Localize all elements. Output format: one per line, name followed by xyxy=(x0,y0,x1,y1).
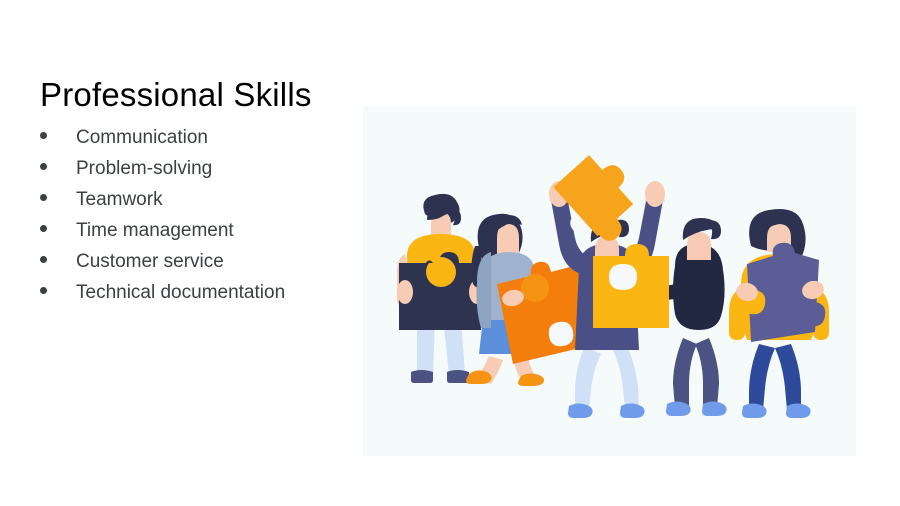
hand xyxy=(645,181,665,207)
list-item: Customer service xyxy=(40,246,350,277)
bullet-dot-icon xyxy=(40,132,47,139)
bullet-dot-icon xyxy=(40,163,47,170)
list-item: Time management xyxy=(40,215,350,246)
puzzle-piece xyxy=(593,244,669,328)
skills-bullet-list: Communication Problem-solving Teamwork T… xyxy=(40,122,350,308)
hand xyxy=(397,280,413,304)
shoe-icon xyxy=(411,370,433,383)
list-item: Technical documentation xyxy=(40,277,350,308)
skill-label: Teamwork xyxy=(76,184,163,215)
list-item: Teamwork xyxy=(40,184,350,215)
skill-label: Customer service xyxy=(76,246,224,277)
skill-label: Technical documentation xyxy=(76,277,285,308)
skill-label: Communication xyxy=(76,122,208,153)
bullet-dot-icon xyxy=(40,256,47,263)
teamwork-puzzle-svg xyxy=(363,106,856,456)
teamwork-puzzle-illustration xyxy=(363,106,856,456)
bullet-dot-icon xyxy=(40,225,47,232)
skill-label: Problem-solving xyxy=(76,153,212,184)
shoe-icon xyxy=(447,370,469,383)
bullet-dot-icon xyxy=(40,287,47,294)
list-item: Communication xyxy=(40,122,350,153)
skill-label: Time management xyxy=(76,215,234,246)
slide-canvas: Professional Skills Communication Proble… xyxy=(0,0,900,506)
list-item: Problem-solving xyxy=(40,153,350,184)
page-title: Professional Skills xyxy=(40,75,312,115)
bullet-dot-icon xyxy=(40,194,47,201)
